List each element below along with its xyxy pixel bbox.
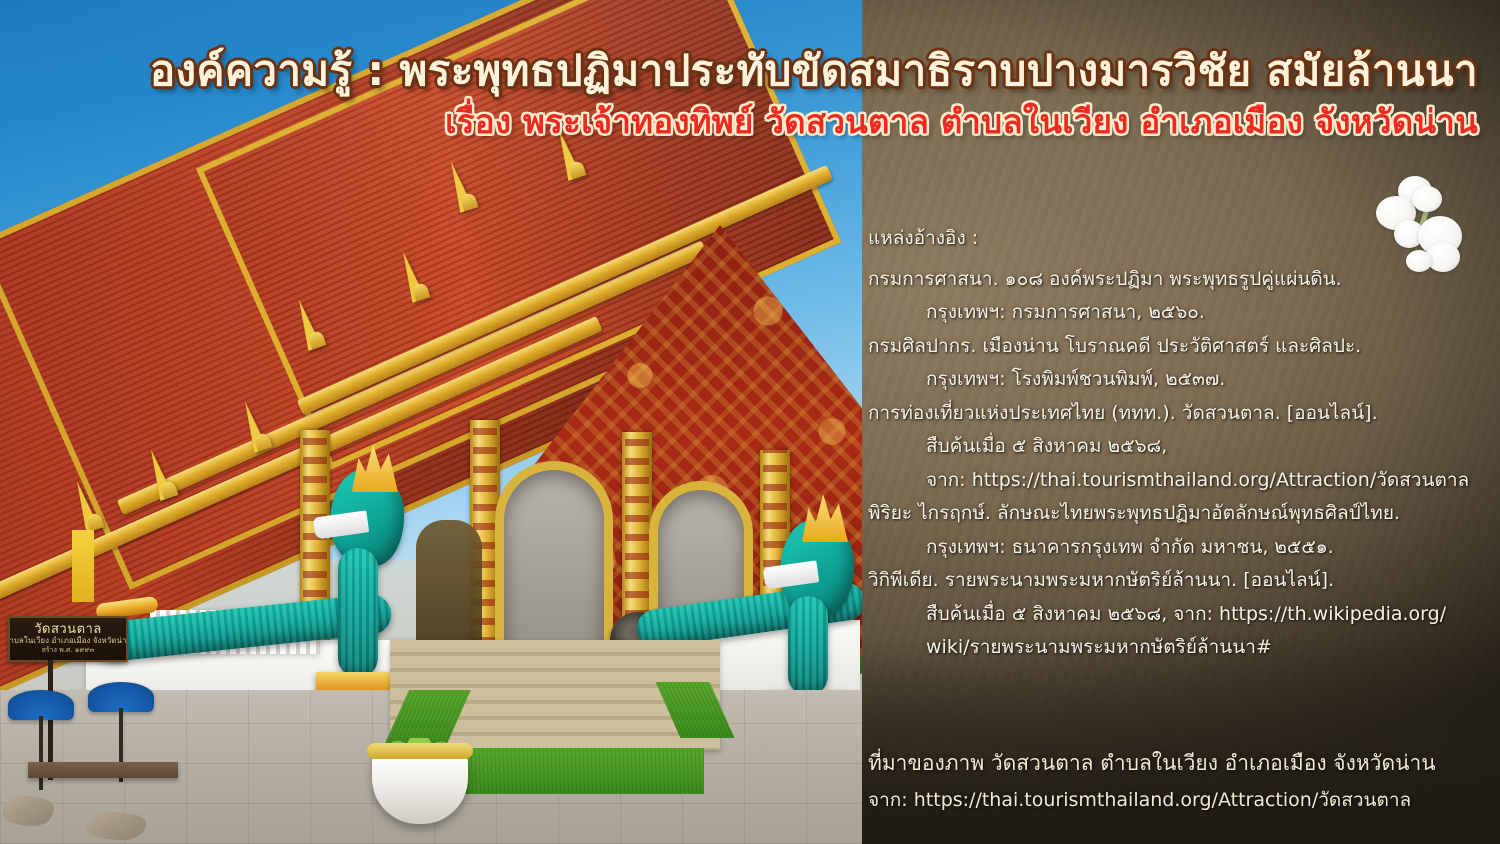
reference-entry-2-line-1: กรมศิลปากร. เมืองน่าน โบราณคดี ประวัติศา… <box>868 330 1494 364</box>
decor-rock <box>2 796 54 826</box>
decor-rock <box>86 812 146 840</box>
sign-line-3: สร้าง พ.ศ. ๑๙๙๓ <box>42 646 95 655</box>
image-credit-url: จาก: https://thai.tourismthailand.org/At… <box>868 782 1494 818</box>
image-credit-title: ที่มาของภาพ วัดสวนตาล ตำบลในเวียง อำเภอเ… <box>868 744 1494 782</box>
temple-photo: วัดสวนตาล ตำบลในเวียง อำเภอเมือง จังหวัด… <box>0 0 862 844</box>
references-block: แหล่งอ้างอิง : กรมการศาสนา. ๑๐๘ องค์พระป… <box>868 222 1494 665</box>
reference-entry-5-line-3: wiki/รายพระนามพระมหากษัตริย์ล้านนา# <box>868 631 1494 665</box>
yellow-flag <box>72 530 94 602</box>
reference-entry-3-line-1: การท่องเที่ยวแห่งประเทศไทย (ททท.). วัดสว… <box>868 397 1494 431</box>
sign-line-2: ตำบลในเวียง อำเภอเมือง จังหวัดน่าน <box>8 636 128 646</box>
flower-petal <box>1412 186 1442 212</box>
naga-neck-right <box>788 596 828 696</box>
blue-umbrella <box>88 682 154 712</box>
reference-entry-3-line-3: จาก: https://thai.tourismthailand.org/At… <box>868 464 1494 498</box>
reference-entry-3-line-2: สืบค้นเมื่อ ๕ สิงหาคม ๒๕๖๘, <box>868 430 1494 464</box>
image-credit-block: ที่มาของภาพ วัดสวนตาล ตำบลในเวียง อำเภอเ… <box>868 744 1494 818</box>
reference-entry-4-line-2: กรุงเทพฯ: ธนาคารกรุงเทพ จำกัด มหาชน, ๒๕๕… <box>868 531 1494 565</box>
reference-entry-4-line-1: พิริยะ ไกรฤกษ์. ลักษณะไทยพระพุทธปฏิมาอัต… <box>868 497 1494 531</box>
slide-canvas: วัดสวนตาล ตำบลในเวียง อำเภอเมือง จังหวัด… <box>0 0 1500 844</box>
reference-entry-5-line-2: สืบค้นเมื่อ ๕ สิงหาคม ๒๕๖๘, จาก: https:/… <box>868 598 1494 632</box>
reference-entry-1-line-2: กรุงเทพฯ: กรมการศาสนา, ๒๕๖๐. <box>868 296 1494 330</box>
temple-name-sign: วัดสวนตาล ตำบลในเวียง อำเภอเมือง จังหวัด… <box>8 616 128 662</box>
blue-umbrella <box>8 690 74 720</box>
reference-entry-2-line-2: กรุงเทพฯ: โรงพิมพ์ชวนพิมพ์, ๒๕๓๗. <box>868 363 1494 397</box>
references-heading: แหล่งอ้างอิง : <box>868 222 1494 256</box>
naga-neck-left <box>338 548 378 678</box>
sign-line-1: วัดสวนตาล <box>34 623 102 636</box>
reference-entry-5-line-1: วิกิพีเดีย. รายพระนามพระมหากษัตริย์ล้านน… <box>868 564 1494 598</box>
inner-shrine <box>416 520 482 660</box>
wooden-bench <box>28 762 178 778</box>
reference-entry-1-line-1: กรมการศาสนา. ๑๐๘ องค์พระปฏิมา พระพุทธรูป… <box>868 263 1494 297</box>
